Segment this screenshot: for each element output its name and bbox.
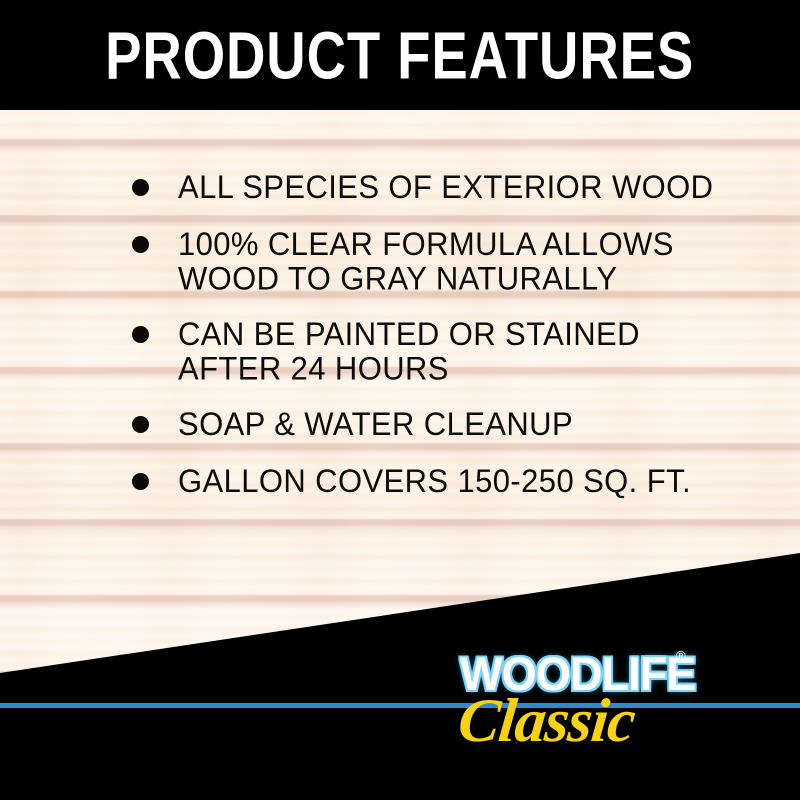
feature-text: 100% CLEAR FORMULA ALLOWS WOOD TO GRAY N… (178, 227, 674, 296)
registered-trademark-icon: ® (676, 648, 686, 663)
bullet-dot-icon (132, 416, 149, 433)
list-item: SOAP & WATER CLEANUP (0, 407, 800, 440)
bullet-dot-icon (132, 236, 149, 253)
logo-script-classic: Classic (455, 690, 637, 752)
feature-text: CAN BE PAINTED OR STAINED AFTER 24 HOURS (178, 317, 640, 386)
feature-text: ALL SPECIES OF EXTERIOR WOOD (178, 170, 713, 204)
feature-list: ALL SPECIES OF EXTERIOR WOOD 100% CLEAR … (0, 170, 800, 521)
page-title: PRODUCT FEATURES (106, 24, 695, 91)
list-item: 100% CLEAR FORMULA ALLOWS WOOD TO GRAY N… (0, 227, 800, 293)
list-item: GALLON COVERS 150-250 SQ. FT. (0, 464, 800, 497)
feature-text: GALLON COVERS 150-250 SQ. FT. (178, 464, 691, 498)
woodlife-classic-logo: WOODLIFE ® Classic (458, 650, 788, 780)
bullet-dot-icon (132, 473, 149, 490)
bullet-dot-icon (132, 179, 149, 196)
product-features-poster: PRODUCT FEATURES ALL SPECIES OF EXTERIOR… (0, 0, 800, 800)
feature-text: SOAP & WATER CLEANUP (178, 407, 573, 441)
list-item: CAN BE PAINTED OR STAINED AFTER 24 HOURS (0, 317, 800, 383)
bullet-dot-icon (132, 326, 149, 343)
header-band: PRODUCT FEATURES (0, 0, 800, 110)
list-item: ALL SPECIES OF EXTERIOR WOOD (0, 170, 800, 203)
